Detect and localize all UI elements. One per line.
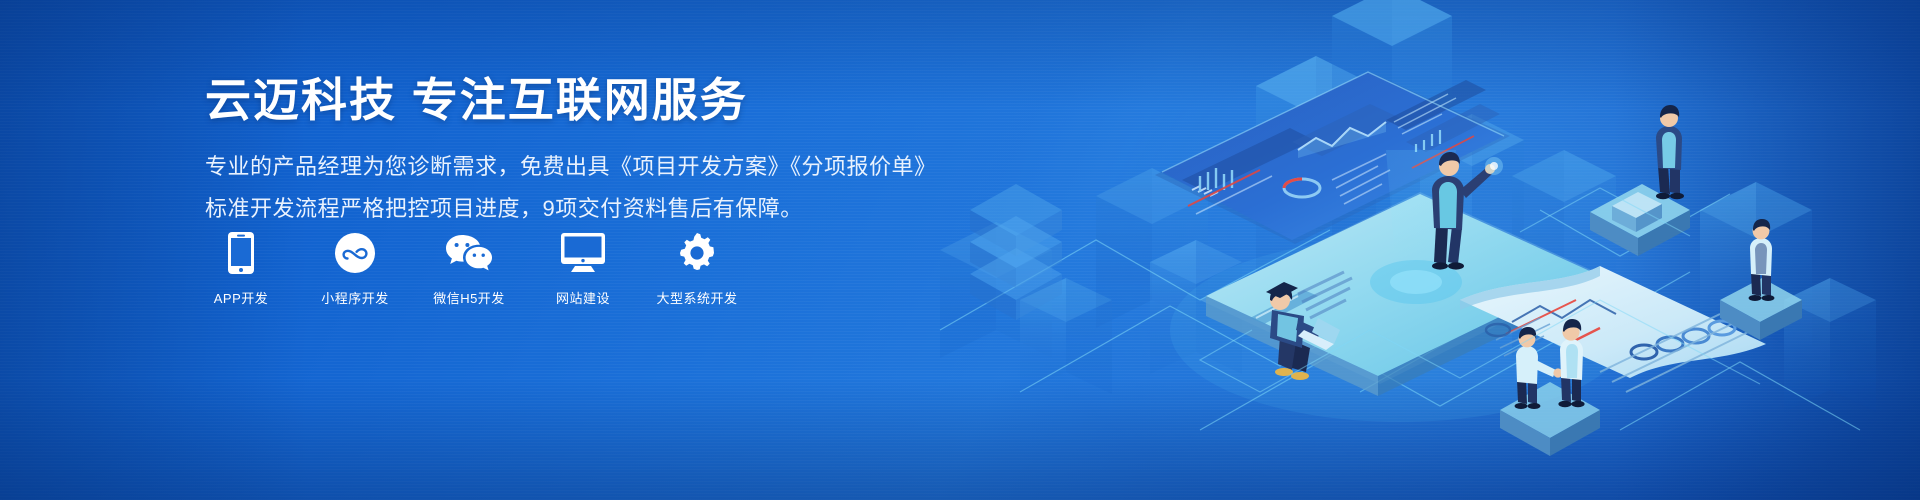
- service-label: 大型系统开发: [657, 288, 738, 307]
- wechat-icon: [445, 232, 493, 274]
- service-item-app[interactable]: APP开发: [205, 232, 277, 307]
- server-racks: [970, 184, 1062, 320]
- service-label: APP开发: [214, 288, 269, 307]
- service-item-wechat-h5[interactable]: 微信H5开发: [433, 232, 505, 307]
- spacer: [205, 130, 937, 144]
- service-item-large-system[interactable]: 大型系统开发: [661, 232, 733, 307]
- service-item-mini-program[interactable]: 小程序开发: [319, 232, 391, 307]
- hero-banner: 云迈科技 专注互联网服务 专业的产品经理为您诊断需求，免费出具《项目开发方案》《…: [0, 0, 1920, 500]
- page-title: 云迈科技 专注互联网服务: [205, 72, 937, 130]
- mini-program-icon: [335, 232, 375, 274]
- banner-copy: 云迈科技 专注互联网服务 专业的产品经理为您诊断需求，免费出具《项目开发方案》《…: [205, 72, 937, 229]
- isometric-data-dashboard-illustration: [900, 0, 1920, 500]
- service-label: 网站建设: [556, 288, 610, 307]
- mobile-phone-icon: [228, 232, 254, 274]
- service-label: 小程序开发: [321, 288, 389, 307]
- service-label: 微信H5开发: [433, 288, 505, 307]
- desktop-monitor-icon: [561, 232, 605, 274]
- service-item-website[interactable]: 网站建设: [547, 232, 619, 307]
- subtitle-line-1: 专业的产品经理为您诊断需求，免费出具《项目开发方案》《分项报价单》: [205, 148, 937, 187]
- services-list: APP开发 小程序开发 微信: [205, 232, 733, 307]
- gear-icon: [677, 232, 717, 274]
- subtitle-line-2: 标准开发流程严格把控项目进度，9项交付资料售后有保障。: [205, 190, 937, 229]
